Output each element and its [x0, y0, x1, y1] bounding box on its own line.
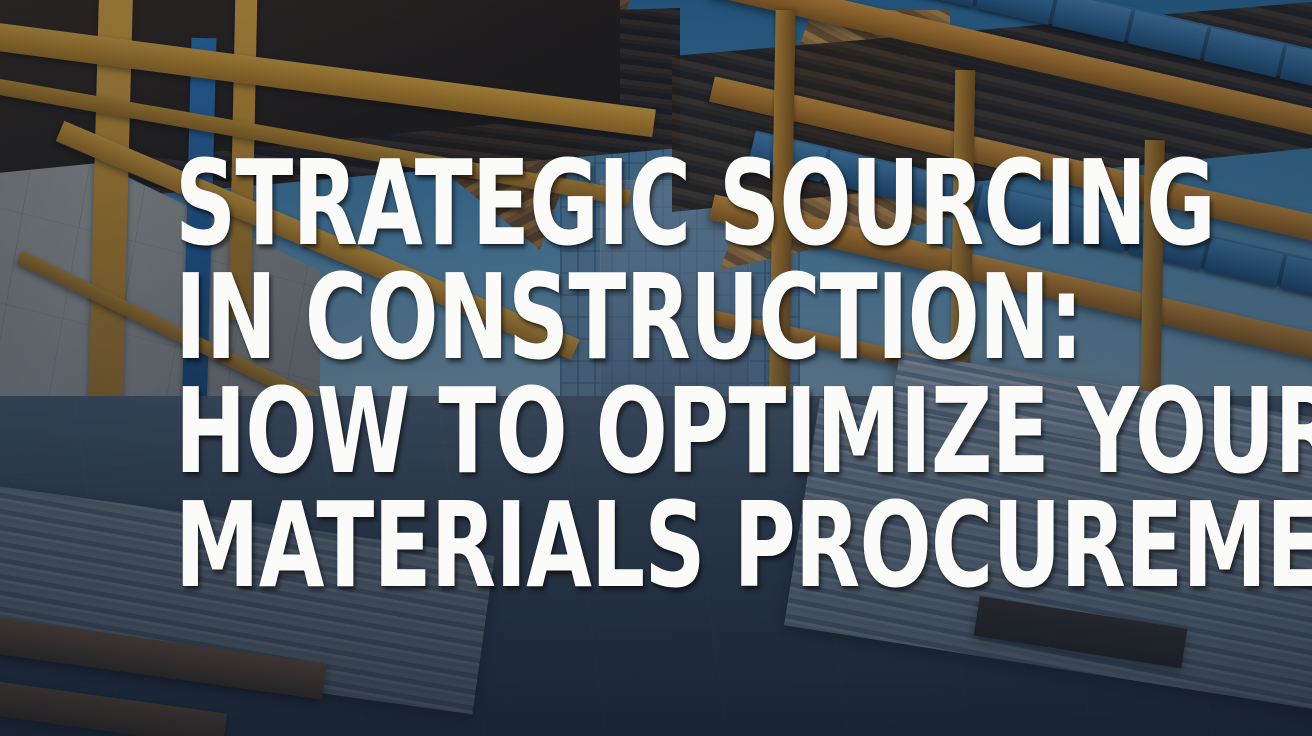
- title-line-2: IN CONSTRUCTION:: [175, 260, 983, 374]
- blue-pallet: [900, 0, 980, 7]
- blue-pallet: [976, 0, 1056, 25]
- blue-pallet: [1280, 255, 1312, 305]
- hero-banner: STRATEGIC SOURCING IN CONSTRUCTION: HOW …: [0, 0, 1312, 736]
- hero-title: STRATEGIC SOURCING IN CONSTRUCTION: HOW …: [175, 146, 1185, 602]
- blue-pallet: [1204, 238, 1284, 288]
- title-line-1: STRATEGIC SOURCING: [175, 146, 983, 260]
- title-line-4: MATERIALS PROCUREMENT: [175, 488, 983, 602]
- title-line-3: HOW TO OPTIMIZE YOUR: [175, 374, 983, 488]
